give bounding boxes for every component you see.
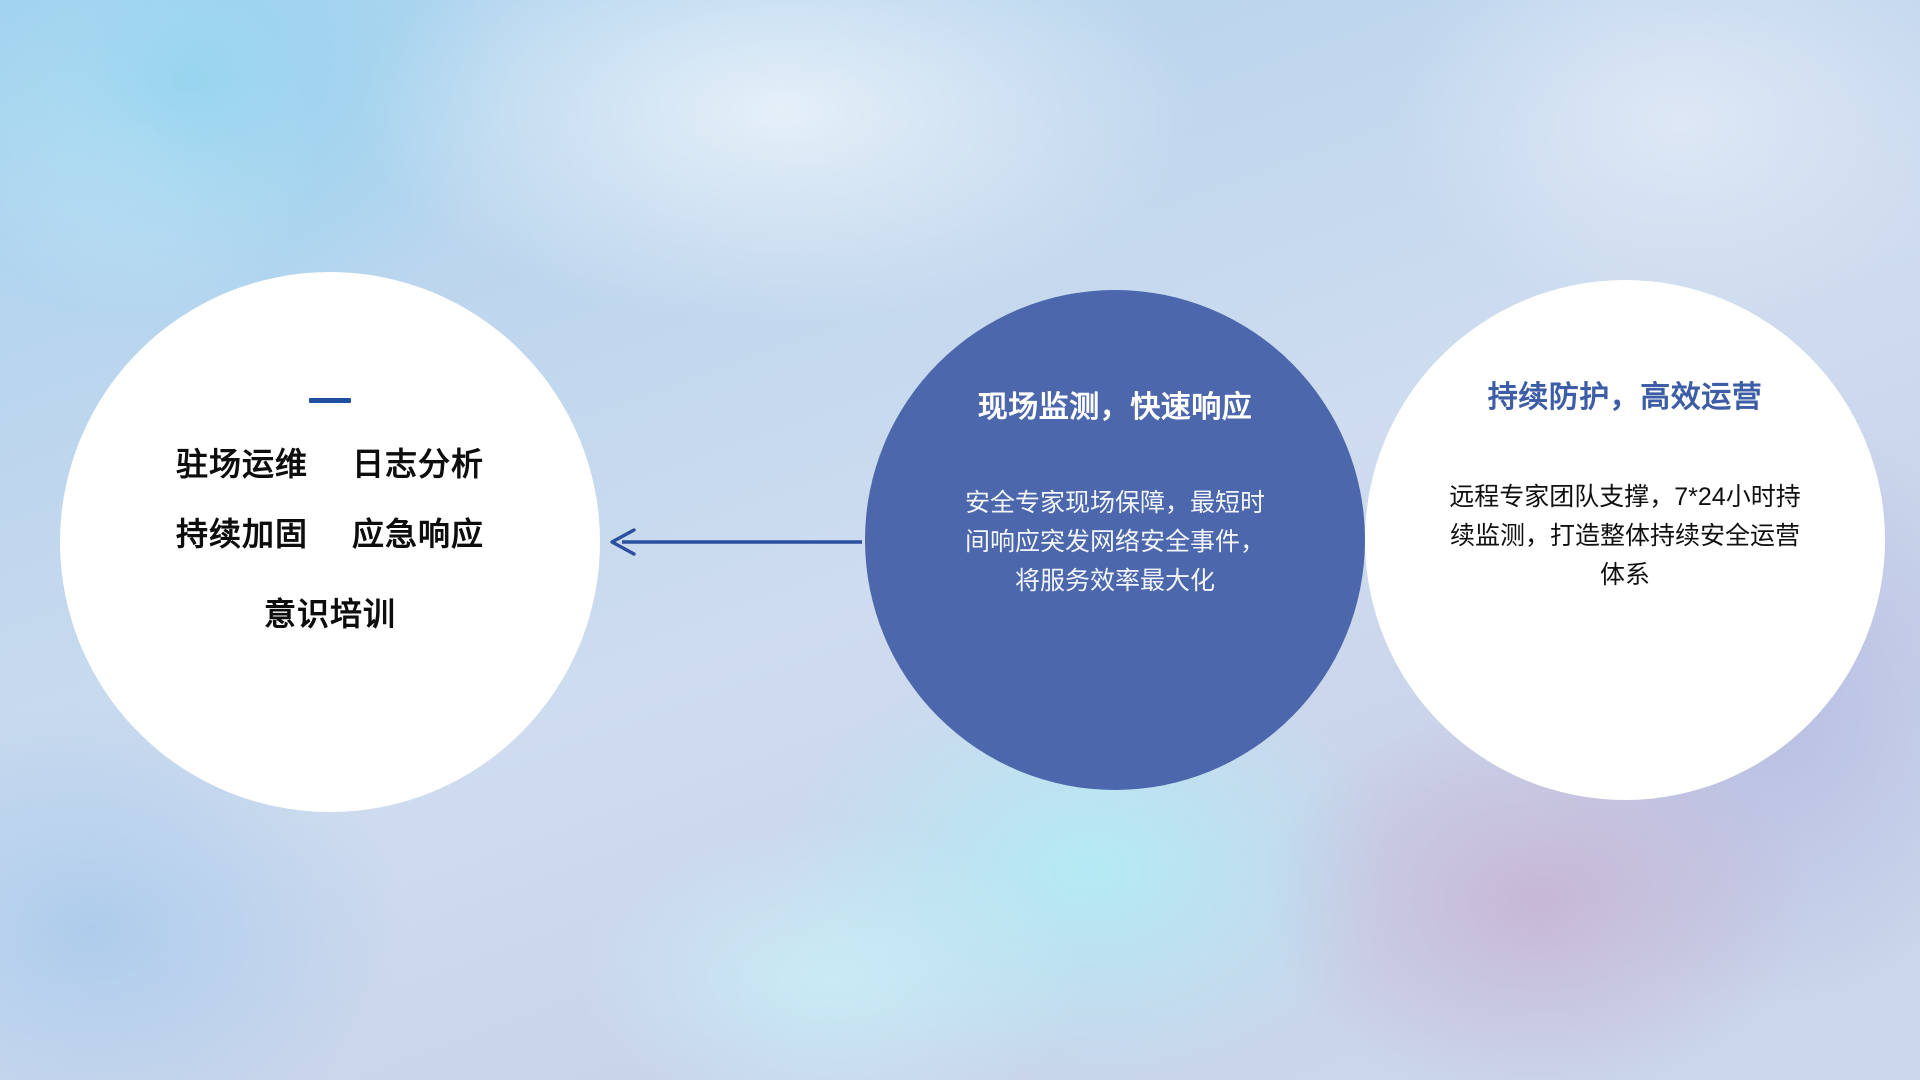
remote-title: 持续防护，高效运营 (1488, 372, 1763, 416)
flow-arrow-left-icon (600, 510, 870, 574)
capability-row: 驻场运维 日志分析 (176, 439, 484, 485)
capability-item[interactable]: 日志分析 (352, 439, 484, 485)
capabilities-circle[interactable]: 驻场运维 日志分析 持续加固 应急响应 意识培训 (60, 272, 600, 812)
divider-line (309, 398, 351, 403)
capability-item[interactable]: 意识培训 (264, 589, 396, 635)
capability-row: 持续加固 应急响应 (176, 509, 484, 555)
onsite-description: 安全专家现场保障，最短时间响应突发网络安全事件，将服务效率最大化 (959, 484, 1271, 601)
continuous-protection-circle[interactable]: 持续防护，高效运营 远程专家团队支撑，7*24小时持续监测，打造整体持续安全运营… (1365, 280, 1885, 800)
capability-row: 意识培训 (264, 589, 396, 635)
onsite-monitoring-circle[interactable]: 现场监测，快速响应 安全专家现场保障，最短时间响应突发网络安全事件，将服务效率最… (865, 290, 1365, 790)
capability-item[interactable]: 应急响应 (352, 509, 484, 555)
onsite-title: 现场监测，快速响应 (978, 382, 1253, 426)
capability-item[interactable]: 驻场运维 (176, 439, 308, 485)
diagram-stage: 驻场运维 日志分析 持续加固 应急响应 意识培训 现场监测，快速响应 安全专家现… (0, 0, 1920, 1080)
capability-list: 驻场运维 日志分析 持续加固 应急响应 意识培训 (60, 439, 600, 635)
remote-description: 远程专家团队支撑，7*24小时持续监测，打造整体持续安全运营体系 (1445, 478, 1805, 595)
capability-item[interactable]: 持续加固 (176, 509, 308, 555)
